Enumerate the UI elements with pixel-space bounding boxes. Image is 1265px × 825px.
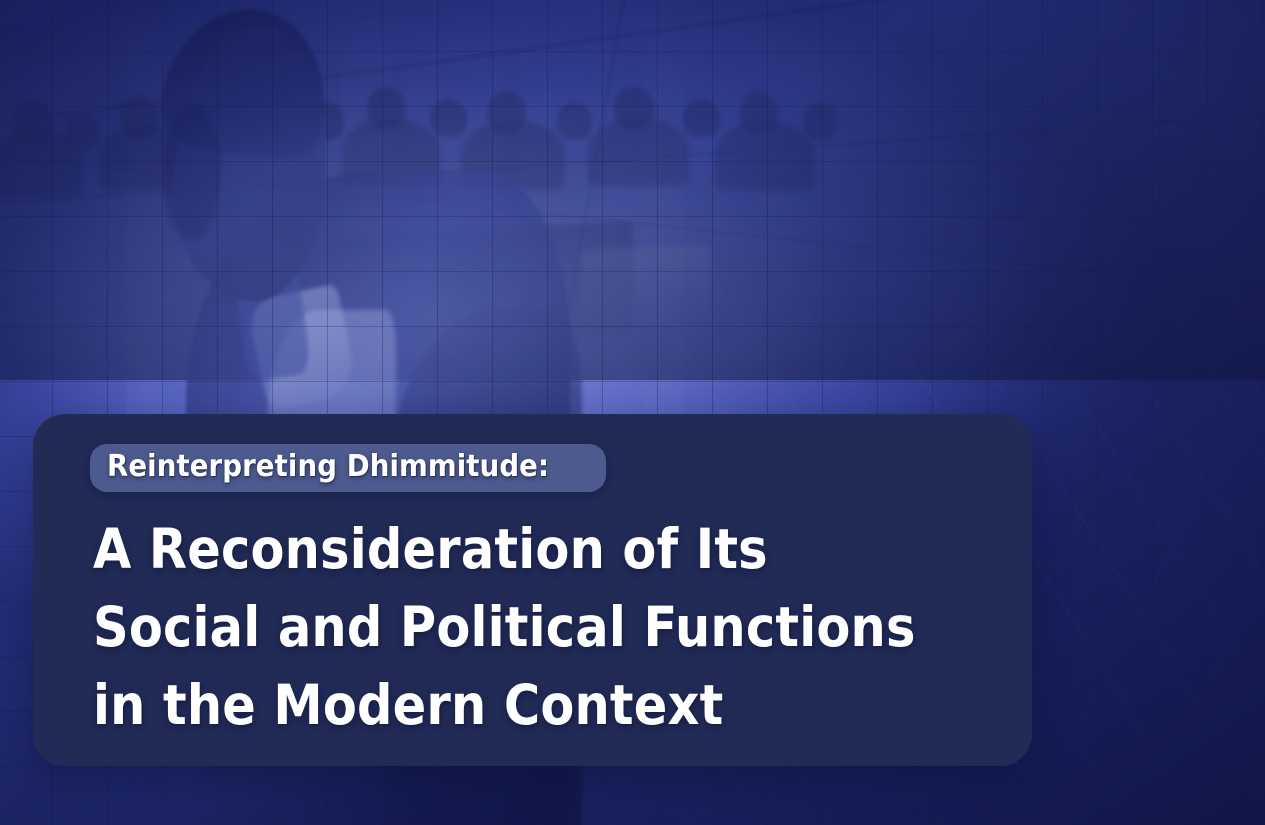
title-card: Reinterpreting Dhimmitude: A Reconsidera… bbox=[33, 414, 1032, 766]
slide-canvas: Reinterpreting Dhimmitude: A Reconsidera… bbox=[0, 0, 1265, 825]
eyebrow-badge: Reinterpreting Dhimmitude: bbox=[90, 444, 606, 492]
page-title: A Reconsideration of Its Social and Poli… bbox=[93, 510, 939, 744]
eyebrow-label: Reinterpreting Dhimmitude: bbox=[107, 452, 549, 482]
